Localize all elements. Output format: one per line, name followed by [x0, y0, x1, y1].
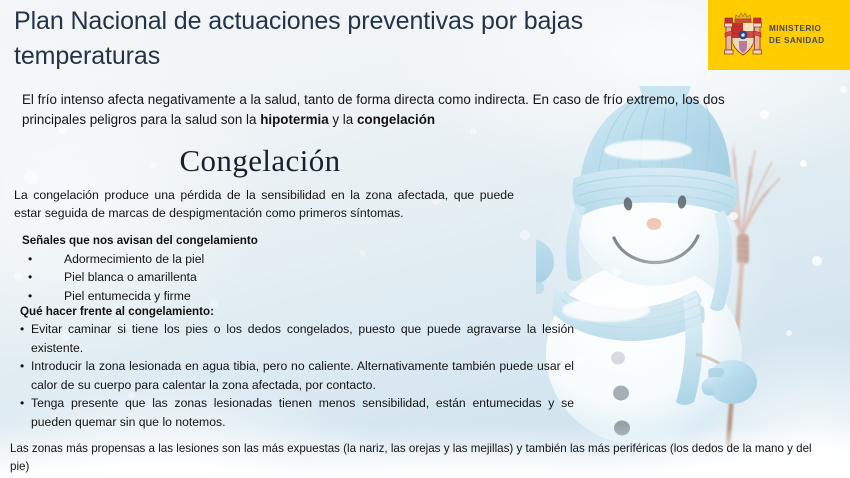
list-item-label: Introducir la zona lesionada en agua tib… — [31, 359, 574, 392]
snowman-button — [613, 386, 629, 401]
bullet-icon: • — [20, 394, 24, 412]
snowman-nose — [647, 218, 662, 230]
list-item: •Introducir la zona lesionada en agua ti… — [20, 357, 574, 394]
bullet-icon: • — [20, 320, 24, 338]
shield — [733, 23, 754, 55]
bullet-icon: • — [20, 357, 24, 375]
snowman-mitten-left — [536, 238, 554, 286]
snowman-winter-photo — [536, 86, 850, 446]
ministerio-de-sanidad-logo-text: MINISTERIO DE SANIDAD — [769, 23, 824, 46]
logo-line-2: DE SANIDAD — [769, 35, 824, 47]
snowman-head — [576, 142, 732, 286]
snowman-hat-tie — [710, 210, 732, 311]
intro-paragraph: El frío intenso afecta negativamente a l… — [22, 90, 734, 131]
snowman-body — [546, 262, 742, 446]
list-item-label: Tenga presente que las zonas lesionadas … — [31, 396, 574, 429]
list-item-label: Evitar caminar si tiene los pies o los d… — [31, 322, 574, 355]
bullet-icon: • — [28, 268, 32, 286]
list-item: •Evitar caminar si tiene los pies o los … — [20, 320, 574, 357]
snowman-face — [614, 195, 698, 263]
list-item: •Piel blanca o amarillenta — [22, 268, 442, 287]
section-lead-paragraph: La congelación produce una pérdida de la… — [14, 186, 514, 223]
snowman-mouth — [614, 236, 698, 263]
logo-line-1: MINISTERIO — [769, 23, 824, 35]
intro-bold-hipotermia: hipotermia — [260, 112, 328, 127]
footnote-paragraph: Las zonas más propensas a las lesiones s… — [10, 440, 830, 475]
snowman-eye — [623, 197, 633, 211]
section-heading: Congelación — [0, 143, 520, 179]
list-item-label: Piel blanca o amarillenta — [64, 270, 197, 284]
snowman-scarf — [552, 286, 705, 341]
signs-block: Señales que nos avisan del congelamiento… — [22, 233, 442, 306]
ministerio-de-sanidad-logo: MINISTERIO DE SANIDAD — [708, 0, 850, 70]
list-item-label: Piel entumecida y firme — [64, 289, 191, 303]
broom — [707, 142, 780, 446]
snowman-eye — [677, 195, 687, 209]
intro-text-part2: y la — [329, 112, 357, 127]
page-title: Plan Nacional de actuaciones preventivas… — [14, 4, 674, 73]
crown — [735, 13, 751, 22]
slide-canvas: Plan Nacional de actuaciones preventivas… — [0, 0, 850, 478]
snowman-button — [611, 352, 625, 365]
list-item-label: Adormecimiento de la piel — [64, 252, 204, 266]
list-item: •Adormecimiento de la piel — [22, 250, 442, 269]
snowman-scarf-tail — [676, 292, 703, 405]
signs-heading: Señales que nos avisan del congelamiento — [22, 233, 442, 250]
spain-coat-of-arms-icon — [724, 11, 762, 59]
actions-list: •Evitar caminar si tiene los pies o los … — [20, 320, 574, 431]
signs-list: •Adormecimiento de la piel •Piel blanca … — [22, 250, 442, 306]
actions-block: Qué hacer frente al congelamiento: •Evit… — [20, 303, 574, 431]
snowman-svg — [536, 86, 850, 446]
intro-bold-congelacion: congelación — [357, 112, 435, 127]
snowman-mitten-right — [707, 360, 757, 404]
snowman-button — [614, 421, 630, 436]
list-item: •Tenga presente que las zonas lesionadas… — [20, 394, 574, 431]
bullet-icon: • — [28, 250, 32, 268]
actions-heading: Qué hacer frente al congelamiento: — [20, 303, 574, 320]
